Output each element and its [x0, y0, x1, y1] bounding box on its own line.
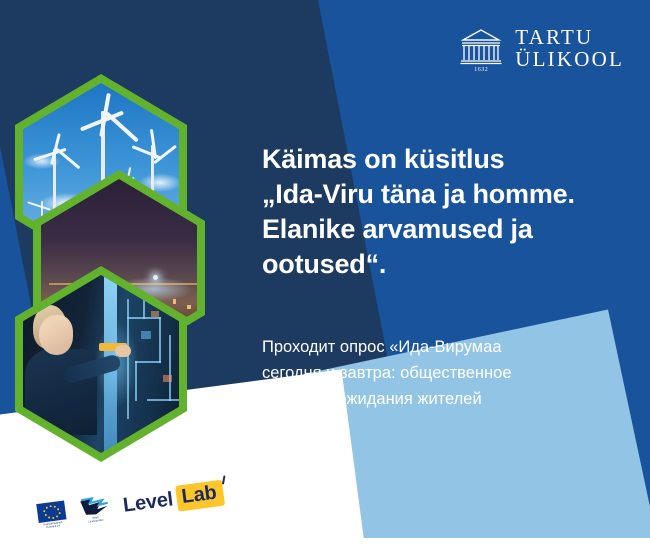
subtext-line-2: сегодня и завтра: общественное	[262, 360, 614, 386]
headline: Käimas on küsitlus „Ida-Viru täna ja hom…	[262, 142, 638, 282]
swallow-icon	[78, 494, 110, 517]
eu-flag-icon	[36, 500, 66, 522]
classical-building-icon: 1632	[459, 26, 503, 70]
subtext-line-1: Проходит опрос «Ида-Вирумаа	[262, 334, 614, 360]
university-name-line1: TARTU	[515, 26, 624, 48]
university-name: TARTU ÜLIKOOL	[515, 26, 624, 71]
hexagon-photo-stack	[5, 74, 205, 462]
founded-year: 1632	[459, 67, 503, 73]
person-head	[39, 315, 73, 355]
level-lab-word-level: Level	[122, 488, 175, 517]
european-union-funding-logo: Kaasrahastanud Euroopa Liit	[36, 500, 67, 530]
headline-line-4: ootused“.	[262, 247, 638, 282]
subtext-line-3: мнение и ожидания жителей	[262, 386, 614, 412]
person-hand	[115, 345, 131, 357]
tartu-ulikool-logo: 1632 TARTU ÜLIKOOL	[459, 26, 624, 71]
background-white-strip	[0, 538, 650, 544]
university-name-line2: ÜLIKOOL	[515, 48, 624, 70]
subtext-line-4: региона»	[262, 412, 614, 438]
headline-line-1: Käimas on küsitlus	[262, 142, 638, 177]
woman-touchscreen-image	[23, 275, 179, 453]
headline-line-2: „Ida-Viru täna ja homme.	[262, 177, 638, 212]
subtext: Проходит опрос «Ида-Вирумаа сегодня и за…	[262, 334, 614, 438]
hexagon-photo-touchscreen-image	[23, 275, 179, 453]
headline-line-3: Elanike arvamused ja	[262, 212, 638, 247]
level-lab-lab-text: Lab	[180, 481, 218, 507]
poster-root: 1632 TARTU ÜLIKOOL Käimas on küsitlus „I…	[0, 0, 650, 544]
level-lab-word-lab: Lab	[175, 479, 225, 511]
estonia-swallow-logo: Eesti Lipukujundus	[78, 494, 111, 524]
